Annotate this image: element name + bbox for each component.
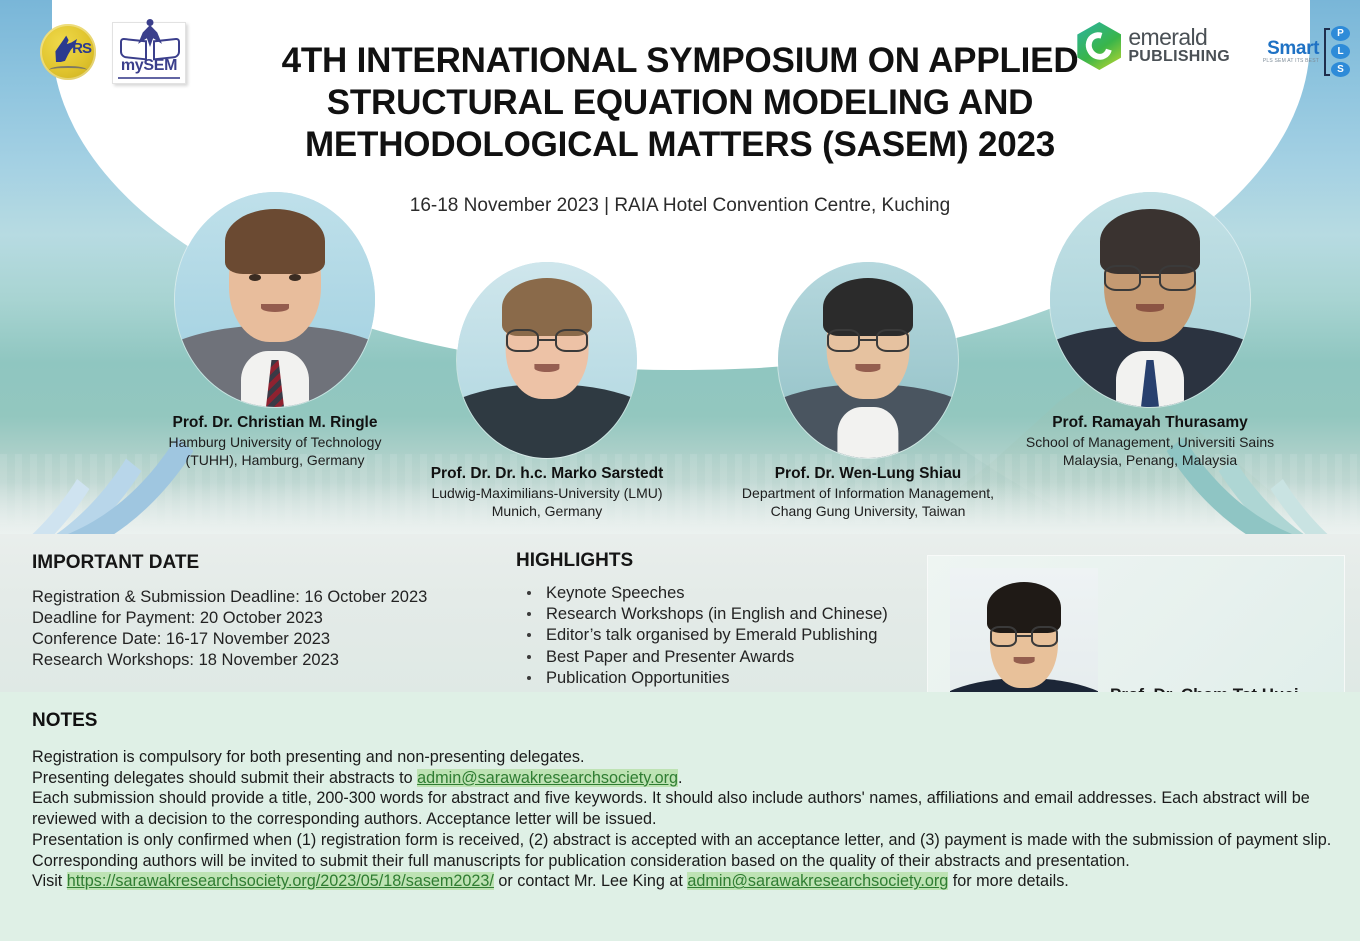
list-item: Editor’s talk organised by Emerald Publi…	[516, 625, 936, 646]
highlight-text: Research Workshops (in English and Chine…	[546, 605, 888, 623]
important-date-item: Research Workshops: 18 November 2023	[32, 650, 502, 671]
highlights-section: HIGHLIGHTS Keynote Speeches Research Wor…	[516, 550, 936, 689]
notes-line2-prefix: Presenting delegates should submit their…	[32, 769, 417, 787]
portrait-glasses-icon	[1104, 265, 1196, 291]
glasses-lens-right	[876, 329, 909, 353]
smartpls-node-p: P	[1331, 26, 1350, 41]
notes-section: NOTES Registration is compulsory for bot…	[0, 692, 1360, 941]
portrait-shirt	[837, 407, 898, 458]
smartpls-node-l: L	[1331, 44, 1350, 59]
speaker-affiliation-line1: School of Management, Universiti Sains	[960, 433, 1340, 451]
glasses-lens-left	[1104, 265, 1141, 291]
smartpls-smart-text: Smart	[1263, 39, 1319, 58]
flame-dot-icon	[147, 19, 154, 26]
smartpls-logo: Smart PLS SEM AT ITS BEST P L S	[1263, 26, 1350, 78]
portrait-illustration	[1050, 192, 1250, 407]
portrait-mouth	[855, 364, 880, 372]
speaker-card-thurasamy: Prof. Ramayah Thurasamy School of Manage…	[960, 192, 1340, 469]
notes-body: Registration is compulsory for both pres…	[32, 747, 1332, 892]
glasses-lens-left	[827, 329, 860, 353]
bullet-icon	[527, 591, 531, 595]
notes-line-2: Presenting delegates should submit their…	[32, 768, 1332, 789]
abstract-submission-email-link[interactable]: admin@sarawakresearchsociety.org	[417, 769, 678, 787]
mysem-sem-text: SEM	[143, 57, 177, 74]
list-item: Publication Opportunities	[516, 668, 936, 689]
highlight-text: Publication Opportunities	[546, 669, 729, 687]
smartpls-node-s: S	[1331, 62, 1350, 77]
notes-heading: NOTES	[32, 710, 97, 732]
speaker-portrait-shiau	[778, 262, 958, 458]
bullet-icon	[527, 612, 531, 616]
list-item: Best Paper and Presenter Awards	[516, 647, 936, 668]
important-date-item: Conference Date: 16-17 November 2023	[32, 629, 502, 650]
sarawak-research-society-logo: RS	[40, 24, 96, 80]
smartpls-node-diagram-icon: P L S	[1324, 26, 1350, 78]
important-date-item: Deadline for Payment: 20 October 2023	[32, 608, 502, 629]
mysem-my-text: my	[121, 57, 144, 74]
portrait-hair	[225, 209, 325, 274]
glasses-bridge	[1141, 276, 1159, 278]
important-date-section: IMPORTANT DATE Registration & Submission…	[32, 552, 502, 671]
important-date-item: Registration & Submission Deadline: 16 O…	[32, 587, 502, 608]
speaker-portrait-ringle	[175, 192, 375, 407]
notes-line-4: Presentation is only confirmed when (1) …	[32, 830, 1332, 851]
page-title: 4TH INTERNATIONAL SYMPOSIUM ON APPLIED S…	[180, 40, 1180, 166]
bullet-icon	[527, 633, 531, 637]
portrait-mouth	[261, 304, 289, 313]
speaker-affiliation-line2: Malaysia, Penang, Malaysia	[960, 451, 1340, 469]
glasses-bridge	[860, 339, 877, 341]
mysem-underline	[118, 77, 180, 79]
conference-website-link[interactable]: https://sarawakresearchsociety.org/2023/…	[67, 872, 494, 890]
highlights-list: Keynote Speeches Research Workshops (in …	[516, 583, 936, 689]
important-date-heading: IMPORTANT DATE	[32, 552, 502, 574]
portrait-eye-left	[249, 274, 261, 281]
highlight-text: Editor’s talk organised by Emerald Publi…	[546, 626, 877, 644]
glasses-lens-right	[1031, 626, 1058, 647]
portrait-glasses-icon	[827, 329, 910, 353]
portrait-mouth	[1136, 304, 1164, 313]
portrait-eye-right	[289, 274, 301, 281]
speaker-affiliation-line2: Chang Gung University, Taiwan	[648, 502, 1088, 520]
portrait-illustration	[457, 262, 637, 458]
smartpls-wordmark: Smart PLS SEM AT ITS BEST	[1263, 39, 1319, 65]
speaker-affiliation-line1: Department of Information Management,	[648, 484, 1088, 502]
speaker-name: Prof. Ramayah Thurasamy	[960, 413, 1340, 433]
notes-line6-mid: or contact Mr. Lee King at	[494, 872, 687, 890]
bullet-icon	[527, 676, 531, 680]
sarawak-logo-ring	[49, 66, 87, 74]
glasses-lens-right	[555, 329, 588, 353]
mysem-wordmark: mySEM	[113, 58, 185, 74]
portrait-glasses-icon	[990, 626, 1058, 647]
list-item: Keynote Speeches	[516, 583, 936, 604]
portrait-illustration	[778, 262, 958, 458]
hero-banner: RS mySEM emerald PUBLISHING	[0, 0, 1360, 534]
portrait-glasses-icon	[506, 329, 589, 353]
portrait-mouth	[534, 364, 559, 372]
notes-line2-suffix: .	[678, 769, 683, 787]
contact-email-link[interactable]: admin@sarawakresearchsociety.org	[687, 872, 948, 890]
speaker-portrait-sarstedt	[457, 262, 637, 458]
glasses-bridge	[1017, 635, 1031, 637]
glasses-lens-right	[1159, 265, 1196, 291]
highlight-text: Keynote Speeches	[546, 584, 685, 602]
conference-poster: RS mySEM emerald PUBLISHING	[0, 0, 1360, 941]
open-book-icon	[120, 35, 180, 59]
highlights-heading: HIGHLIGHTS	[516, 550, 936, 572]
notes-line6-suffix: for more details.	[948, 872, 1069, 890]
notes-line-3: Each submission should provide a title, …	[32, 788, 1332, 829]
notes-line6-prefix: Visit	[32, 872, 67, 890]
smartpls-bracket-icon	[1324, 28, 1330, 76]
notes-line-6: Visit https://sarawakresearchsociety.org…	[32, 871, 1332, 892]
portrait-illustration	[175, 192, 375, 407]
important-date-list: Registration & Submission Deadline: 16 O…	[32, 587, 502, 671]
smartpls-tagline-text: PLS SEM AT ITS BEST	[1263, 58, 1319, 65]
list-item: Research Workshops (in English and Chine…	[516, 604, 936, 625]
bullet-icon	[527, 655, 531, 659]
glasses-lens-left	[990, 626, 1017, 647]
sarawak-logo-initials: RS	[72, 41, 91, 56]
glasses-bridge	[539, 339, 556, 341]
portrait-mouth	[1014, 657, 1035, 664]
glasses-lens-left	[506, 329, 539, 353]
mysem-logo: mySEM	[112, 22, 186, 84]
highlight-text: Best Paper and Presenter Awards	[546, 648, 794, 666]
portrait-hair	[1100, 209, 1200, 274]
speaker-portrait-thurasamy	[1050, 192, 1250, 407]
notes-line-5: Corresponding authors will be invited to…	[32, 851, 1332, 872]
notes-line-1: Registration is compulsory for both pres…	[32, 747, 1332, 768]
